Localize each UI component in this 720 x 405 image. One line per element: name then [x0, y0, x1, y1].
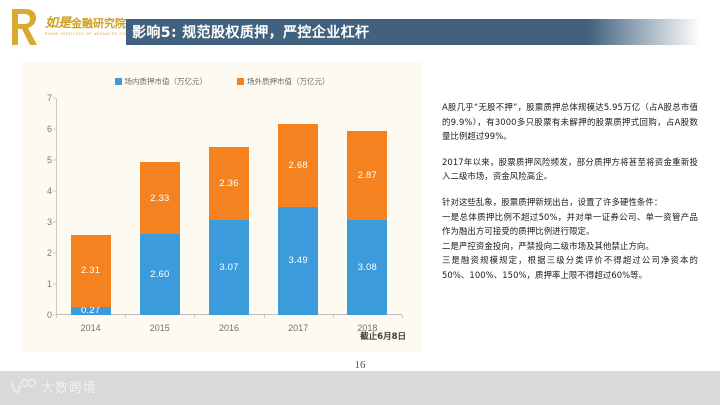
x-axis-tick-mark — [194, 315, 195, 318]
bar-value-label: 2.33 — [150, 193, 169, 204]
bar-segment-onexchange[interactable]: 3.07 — [209, 220, 249, 315]
x-axis-tick-label: 2016 — [199, 323, 259, 333]
bar-group[interactable]: 3.082.872018 — [347, 131, 387, 315]
watermark-text: 大数跨境 — [41, 377, 97, 396]
y-axis-tick-mark — [53, 129, 56, 130]
y-axis-tick-mark — [53, 222, 56, 223]
x-axis-tick-label: 2017 — [268, 323, 328, 333]
y-axis-tick-mark — [53, 98, 56, 99]
x-axis-tick-mark — [333, 315, 334, 318]
x-axis-tick-label: 2015 — [130, 323, 190, 333]
x-axis-tick-mark — [56, 315, 57, 318]
slide-canvas: 如是金融研究院 RUSHI INSTITUTE OF ADVANCED FINA… — [0, 0, 720, 405]
y-axis-tick-label: 1 — [40, 279, 52, 289]
legend-swatch-orange — [237, 78, 244, 85]
body-paragraph: 针对这些乱象，股票质押新规出台，设置了许多硬性条件： 一是总体质押比例不超过50… — [442, 195, 698, 283]
bar-group[interactable]: 3.492.682017 — [278, 124, 318, 315]
chart-plot-area: 01234567 0.272.3120142.602.3320153.072.3… — [56, 98, 402, 315]
slide-header: 如是金融研究院 RUSHI INSTITUTE OF ADVANCED FINA… — [0, 0, 720, 52]
title-bar-fade — [588, 19, 700, 45]
bar-value-label: 2.68 — [289, 160, 308, 171]
bar-value-label: 0.27 — [81, 305, 100, 316]
y-axis-line — [56, 98, 57, 315]
bar-segment-offexchange[interactable]: 2.68 — [278, 124, 318, 207]
bar-value-label: 2.60 — [150, 269, 169, 280]
bar-segment-onexchange[interactable]: 3.49 — [278, 207, 318, 315]
y-axis-tick-mark — [53, 191, 56, 192]
y-axis-tick-mark — [53, 253, 56, 254]
bar-value-label: 3.07 — [219, 262, 238, 273]
legend-swatch-blue — [115, 78, 122, 85]
legend-label-offexchange: 场外质押市值（万亿元） — [247, 76, 330, 87]
body-paragraph: A股几乎“无股不押”，股票质押总体规模达5.95万亿（占A股总市值的9.9%），… — [442, 100, 698, 144]
bar-group[interactable]: 3.072.362016 — [209, 147, 249, 315]
bar-group[interactable]: 0.272.312014 — [71, 235, 111, 315]
y-axis-tick-label: 0 — [40, 310, 52, 320]
stacked-bar-chart: 场内质押市值（万亿元） 场外质押市值（万亿元） 01234567 0.272.3… — [22, 62, 422, 352]
page-number: 16 — [0, 359, 720, 371]
legend-item-onexchange: 场内质押市值（万亿元） — [115, 76, 208, 87]
chart-legend: 场内质押市值（万亿元） 场外质押市值（万亿元） — [22, 76, 422, 87]
x-axis-tick-mark — [264, 315, 265, 318]
bar-segment-offexchange[interactable]: 2.33 — [140, 162, 180, 234]
body-text-panel: A股几乎“无股不押”，股票质押总体规模达5.95万亿（占A股总市值的9.9%），… — [442, 100, 698, 283]
bar-segment-onexchange[interactable]: 3.08 — [347, 220, 387, 315]
slide-title-bar: 影响5: 规范股权质押，严控企业杠杆 — [126, 19, 588, 45]
bar-value-label: 3.49 — [289, 255, 308, 266]
y-axis-tick-label: 7 — [40, 93, 52, 103]
y-axis-tick-mark — [53, 160, 56, 161]
bar-value-label: 2.31 — [81, 265, 100, 276]
y-axis-tick-mark — [53, 284, 56, 285]
watermark: 大数跨境 — [10, 377, 97, 396]
legend-item-offexchange: 场外质押市值（万亿元） — [237, 76, 330, 87]
bar-group[interactable]: 2.602.332015 — [140, 162, 180, 315]
bar-value-label: 3.08 — [358, 262, 377, 273]
bar-segment-onexchange[interactable]: 0.27 — [71, 307, 111, 315]
slide-footer: 大数跨境 — [0, 371, 720, 405]
bar-segment-offexchange[interactable]: 2.87 — [347, 131, 387, 220]
legend-label-onexchange: 场内质押市值（万亿元） — [125, 76, 208, 87]
bar-segment-offexchange[interactable]: 2.31 — [71, 235, 111, 307]
logo-r-icon — [8, 7, 42, 47]
brand-logo: 如是金融研究院 RUSHI INSTITUTE OF ADVANCED FINA… — [8, 6, 128, 48]
x-axis-tick-label: 2014 — [61, 323, 121, 333]
bar-segment-offexchange[interactable]: 2.36 — [209, 147, 249, 220]
y-axis-tick-label: 5 — [40, 155, 52, 165]
bar-value-label: 2.87 — [358, 170, 377, 181]
body-paragraph: 2017年以来，股票质押风险频发，部分质押方将甚至将资金重新投入二级市场，资金风… — [442, 155, 698, 184]
x-axis-tick-mark — [402, 315, 403, 318]
bar-segment-onexchange[interactable]: 2.60 — [140, 234, 180, 315]
page-title: 影响5: 规范股权质押，严控企业杠杆 — [126, 22, 369, 42]
y-axis-tick-label: 6 — [40, 124, 52, 134]
y-axis-tick-label: 4 — [40, 186, 52, 196]
glasses-icon — [10, 378, 36, 396]
chart-annotation: 截止6月8日 — [360, 330, 406, 342]
y-axis-tick-label: 2 — [40, 248, 52, 258]
x-axis-tick-mark — [125, 315, 126, 318]
bar-value-label: 2.36 — [219, 178, 238, 189]
y-axis-tick-label: 3 — [40, 217, 52, 227]
